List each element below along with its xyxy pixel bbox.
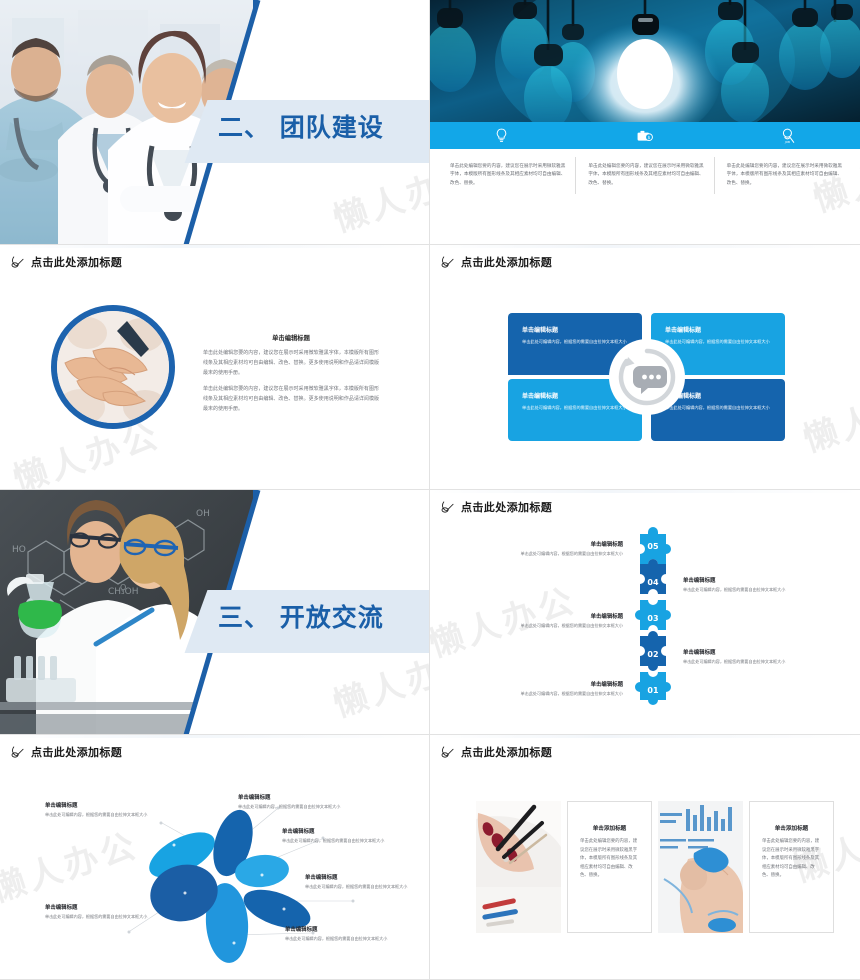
label-body: 单击此处可编辑内容，根据您的需要自由拉伸文本框大小	[515, 551, 623, 558]
petal-label[interactable]: 单击编辑标题 单击此处可编辑内容，根据您的需要自由拉伸文本框大小	[285, 925, 397, 943]
label-heading: 单击编辑标题	[683, 648, 791, 656]
label-body: 单击此处可编辑内容，根据您的需要自由拉伸文本框大小	[45, 914, 157, 921]
label-body: 单击此处可编辑内容，根据您的需要自由拉伸文本框大小	[683, 587, 791, 594]
label-heading: 单击编辑标题	[45, 801, 157, 809]
label-body: 单击此处可编辑内容，根据您的需要自由拉伸文本框大小	[683, 659, 791, 666]
three-text-columns: 单击此处编辑您要的内容，建议您在展示时采用微软雅黑字体，本模版所有图形线条及其相…	[430, 157, 860, 194]
slide-title-text: 点击此处添加标题	[31, 744, 122, 760]
text-heading: 单击编辑标题	[203, 333, 379, 342]
slide-circle-photo-text[interactable]: 点击此处添加标题 单击编辑标题 单击此处编辑您要的内容	[0, 245, 430, 490]
label-body: 单击此处可编辑内容，根据您的需要自由拉伸文本框大小	[515, 623, 623, 630]
box-heading: 单击编辑标题	[522, 325, 628, 334]
label-heading: 单击编辑标题	[515, 540, 623, 548]
slide-title[interactable]: 点击此处添加标题	[10, 744, 122, 760]
puzzle-label[interactable]: 单击编辑标题 单击此处可编辑内容，根据您的需要自由拉伸文本框大小	[515, 612, 623, 630]
panel-body: 单击此处编辑您要的内容，建议您在展示时采用微软雅黑字体，本模版所有图形线条及其相…	[762, 838, 821, 881]
label-heading: 单击编辑标题	[238, 793, 350, 801]
label-heading: 单击编辑标题	[515, 612, 623, 620]
label-heading: 单击编辑标题	[285, 925, 397, 933]
slide-title[interactable]: 点击此处添加标题	[440, 254, 552, 270]
slide-bulbs-three-columns[interactable]: $ JOB 单击此处编辑您要的内容，建议您在展示时采用微软雅黑字体，本模版所有图…	[430, 0, 860, 245]
svg-text:$: $	[648, 134, 651, 140]
slide-petal-six-items[interactable]: 点击此处添加标题	[0, 735, 430, 980]
box-body: 单击此处可编辑内容，根据您的需要自由拉伸文本框大小	[522, 404, 628, 411]
column-text[interactable]: 单击此处编辑您要的内容，建议您在展示时采用微软雅黑字体，本模版所有图形线条及其相…	[714, 157, 852, 194]
label-body: 单击此处可编辑内容，根据您的需要自由拉伸文本框大小	[305, 884, 417, 891]
paragraph[interactable]: 单击此处编辑您要的内容，建议您在展示时采用微软雅黑字体，本模版所有图形线条及其相…	[203, 385, 379, 414]
column-text[interactable]: 单击此处编辑您要的内容，建议您在展示时采用微软雅黑字体，本模版所有图形线条及其相…	[438, 157, 575, 194]
slide-title-text: 点击此处添加标题	[461, 499, 552, 515]
hanging-light-bulbs-photo	[430, 0, 860, 122]
puzzle-label[interactable]: 单击编辑标题 单击此处可编辑内容，根据您的需要自由拉伸文本框大小	[683, 648, 791, 666]
puzzle-stack[interactable]: 05 04 03 02 01	[630, 522, 680, 708]
section-title: 三、 开放交流	[218, 598, 384, 634]
box-heading: 单击编辑标题	[665, 325, 771, 334]
text-panel[interactable]: 单击添加标题 单击此处编辑您要的内容，建议您在展示时采用微软雅黑字体，本模版所有…	[749, 801, 834, 933]
label-heading: 单击编辑标题	[282, 827, 394, 835]
top-divider	[430, 735, 860, 738]
top-divider	[430, 245, 860, 248]
slide-section-team[interactable]: 二、 团队建设 懒人办公	[0, 0, 430, 245]
slide-title[interactable]: 点击此处添加标题	[440, 499, 552, 515]
panel-heading: 单击添加标题	[762, 824, 821, 832]
petal-label[interactable]: 单击编辑标题 单击此处可编辑内容，根据您的需要自由拉伸文本框大小	[238, 793, 350, 811]
label-body: 单击此处可编辑内容，根据您的需要自由拉伸文本框大小	[515, 691, 623, 698]
petal-label[interactable]: 单击编辑标题 单击此处可编辑内容，根据您的需要自由拉伸文本框大小	[305, 873, 417, 891]
text-panel[interactable]: 单击添加标题 单击此处编辑您要的内容，建议您在展示时采用微软雅黑字体，本模版所有…	[567, 801, 652, 933]
slide-puzzle-five-steps[interactable]: 点击此处添加标题 05 04 03 02 01 单击编辑标题 单击此处可编辑内容…	[430, 490, 860, 735]
slide-title-text: 点击此处添加标题	[31, 254, 122, 270]
puzzle-label[interactable]: 单击编辑标题 单击此处可编辑内容，根据您的需要自由拉伸文本框大小	[515, 540, 623, 558]
label-heading: 单击编辑标题	[515, 680, 623, 688]
paragraph[interactable]: 单击此处编辑您要的内容，建议您在展示时采用微软雅黑字体，本模版所有图形线条及其相…	[203, 349, 379, 378]
slide-photo-text-panels[interactable]: 点击此处添加标题	[430, 735, 860, 980]
slide-title-text: 点击此处添加标题	[461, 254, 552, 270]
petal-label[interactable]: 单击编辑标题 单击此处可编辑内容，根据您的需要自由拉伸文本框大小	[45, 801, 157, 819]
puzzle-number: 01	[647, 686, 659, 695]
puzzle-label[interactable]: 单击编辑标题 单击此处可编辑内容，根据您的需要自由拉伸文本框大小	[683, 576, 791, 594]
pen-cursor-icon	[440, 499, 456, 515]
petal-label[interactable]: 单击编辑标题 单击此处可编辑内容，根据您的需要自由拉伸文本框大小	[45, 903, 157, 921]
label-heading: 单击编辑标题	[45, 903, 157, 911]
panel-heading: 单击添加标题	[580, 824, 639, 832]
label-heading: 单击编辑标题	[305, 873, 417, 881]
hands-together-teamwork-photo	[51, 305, 175, 429]
slide-title[interactable]: 点击此处添加标题	[10, 254, 122, 270]
panel-row: 单击添加标题 单击此处编辑您要的内容，建议您在展示时采用微软雅黑字体，本模版所有…	[476, 801, 834, 933]
label-body: 单击此处可编辑内容，根据您的需要自由拉伸文本框大小	[45, 812, 157, 819]
column-text[interactable]: 单击此处编辑您要的内容，建议您在展示时采用微软雅黑字体，本模版所有图形线条及其相…	[575, 157, 713, 194]
puzzle-number: 05	[647, 542, 659, 551]
pen-cursor-icon	[440, 254, 456, 270]
label-body: 单击此处可编辑内容，根据您的需要自由拉伸文本框大小	[238, 804, 350, 811]
slide-section-open-exchange[interactable]: HO CH₃OH OH N O	[0, 490, 430, 735]
label-body: 单击此处可编辑内容，根据您的需要自由拉伸文本框大小	[282, 838, 394, 845]
petal-label[interactable]: 单击编辑标题 单击此处可编辑内容，根据您的需要自由拉伸文本框大小	[282, 827, 394, 845]
hand-with-chart-photo	[658, 801, 743, 933]
center-hub	[609, 339, 685, 415]
box-body: 单击此处可编辑内容，根据您的需要自由拉伸文本框大小	[665, 404, 771, 411]
label-heading: 单击编辑标题	[683, 576, 791, 584]
svg-text:JOB: JOB	[784, 139, 790, 143]
top-divider	[430, 490, 860, 493]
puzzle-label[interactable]: 单击编辑标题 单击此处可编辑内容，根据您的需要自由拉伸文本框大小	[515, 680, 623, 698]
puzzle-number: 02	[647, 650, 658, 659]
box-body: 单击此处可编辑内容，根据您的需要自由拉伸文本框大小	[522, 338, 628, 345]
puzzle-number: 04	[647, 578, 659, 587]
watermark: 懒人办公	[796, 368, 860, 462]
slide-title[interactable]: 点击此处添加标题	[440, 744, 552, 760]
label-body: 单击此处可编辑内容，根据您的需要自由拉伸文本框大小	[285, 936, 397, 943]
slide-deck: 二、 团队建设 懒人办公	[0, 0, 860, 980]
section-title: 二、 团队建设	[218, 108, 384, 144]
pen-cursor-icon	[10, 744, 26, 760]
top-divider	[0, 735, 429, 738]
puzzle-number: 03	[647, 614, 658, 623]
slide-four-quadrant-boxes[interactable]: 点击此处添加标题 单击编辑标题 单击此处可编辑内容，根据您的需要自由拉伸文本框大…	[430, 245, 860, 490]
text-block: 单击编辑标题 单击此处编辑您要的内容，建议您在展示时采用微软雅黑字体，本模版所有…	[203, 333, 379, 422]
job-search-icon[interactable]: JOB	[717, 122, 860, 149]
pen-cursor-icon	[440, 744, 456, 760]
quadrant-group: 单击编辑标题 单击此处可编辑内容，根据您的需要自由拉伸文本框大小 单击编辑标题 …	[508, 313, 785, 441]
pen-cursor-icon	[10, 254, 26, 270]
top-divider	[0, 245, 429, 248]
icon-bar: $ JOB	[430, 122, 860, 149]
box-body: 单击此处可编辑内容，根据您的需要自由拉伸文本框大小	[665, 338, 771, 345]
camera-money-icon[interactable]: $	[573, 122, 716, 149]
slide-title-text: 点击此处添加标题	[461, 744, 552, 760]
chat-bubble-icon	[616, 346, 678, 408]
lightbulb-icon[interactable]	[430, 122, 573, 149]
hand-writing-pencil-photo	[476, 801, 561, 933]
panel-body: 单击此处编辑您要的内容，建议您在展示时采用微软雅黑字体，本模版所有图形线条及其相…	[580, 838, 639, 881]
